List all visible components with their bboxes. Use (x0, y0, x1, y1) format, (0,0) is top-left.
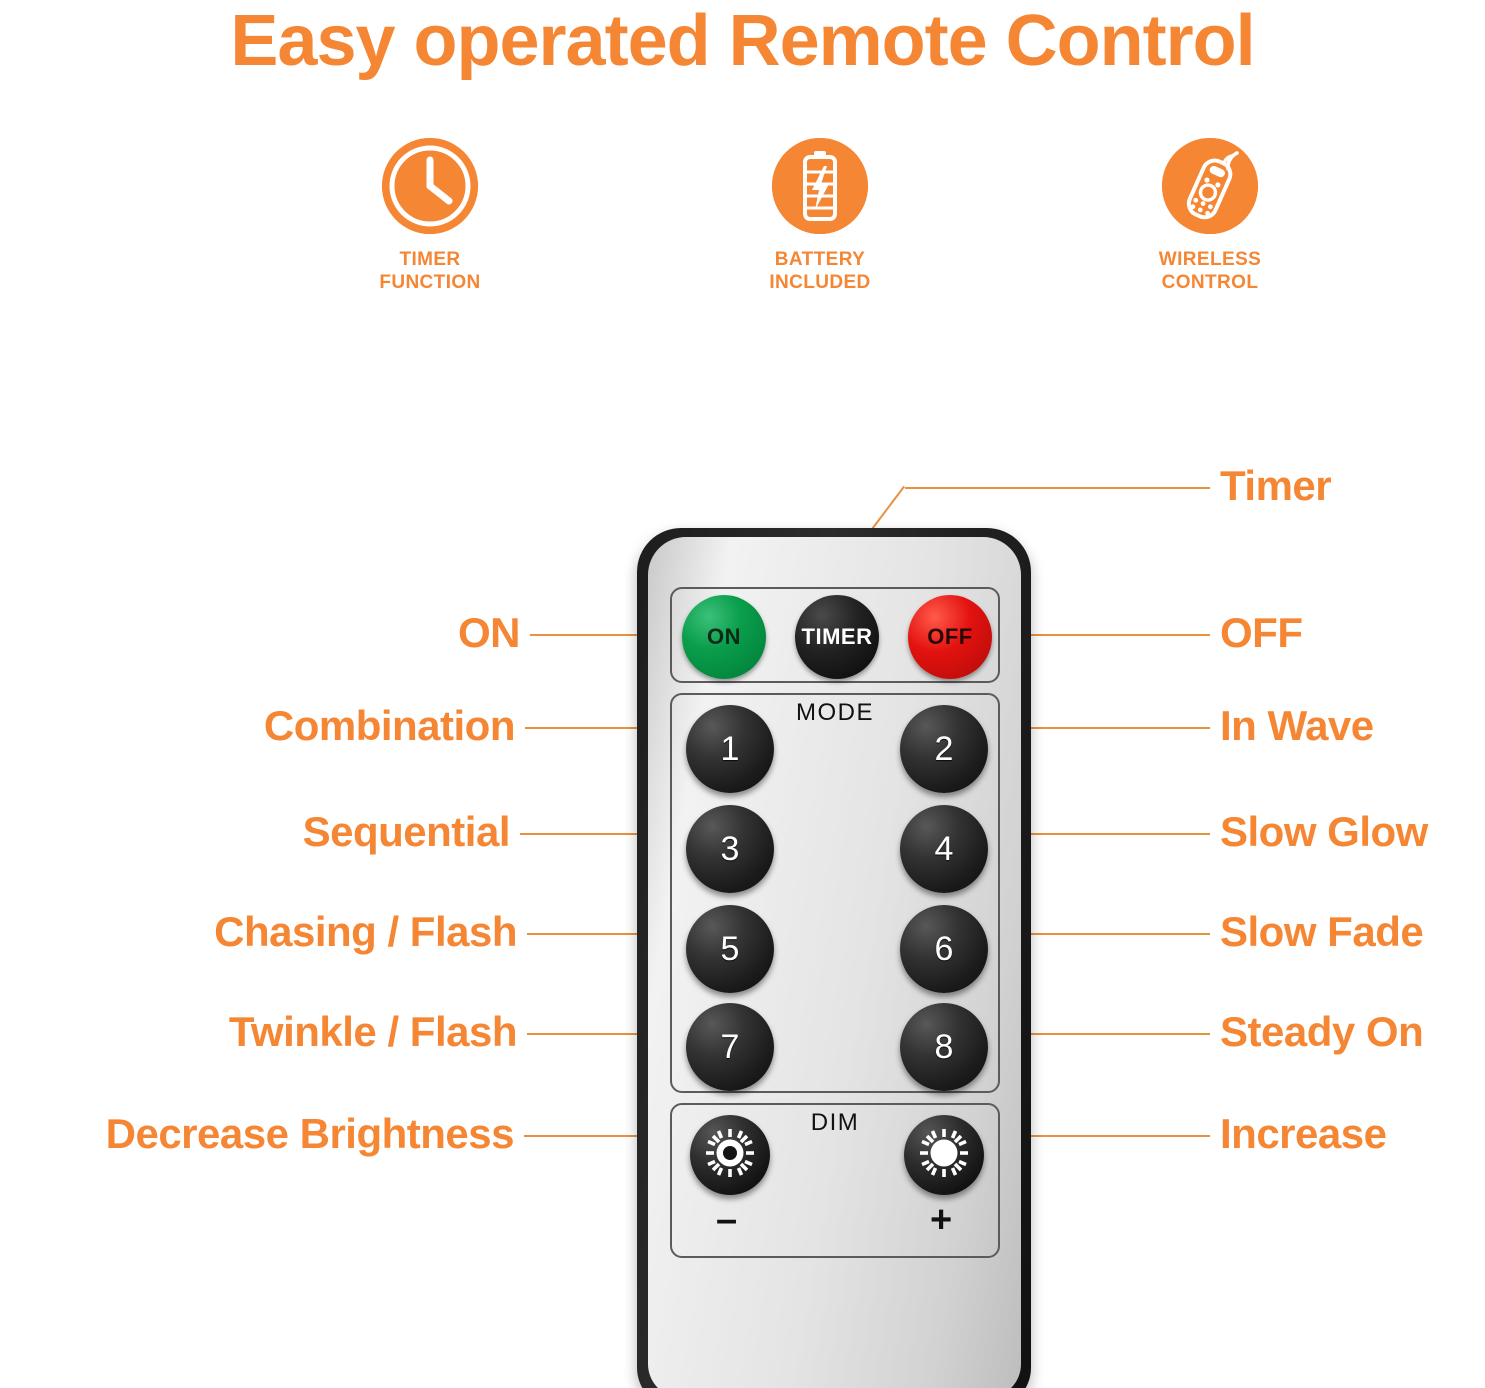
feature-label: BATTERY INCLUDED (769, 248, 870, 294)
dim-increase-button[interactable] (904, 1115, 984, 1195)
leader-line-timer-horizontal (905, 487, 1210, 489)
callout-label: Chasing / Flash (214, 908, 517, 955)
off-button[interactable]: OFF (908, 595, 992, 679)
remote-control: ON TIMER OFF MODE 1 2 3 4 5 6 7 8 (637, 528, 1031, 1388)
mode-panel: MODE 1 2 3 4 5 6 7 8 (670, 693, 1000, 1093)
mode-button-4[interactable]: 4 (900, 805, 988, 893)
feature-timer-function: TIMER FUNCTION (300, 138, 560, 294)
callout-in-wave: In Wave (1220, 705, 1374, 747)
off-button-label: OFF (927, 624, 973, 650)
feature-label: TIMER FUNCTION (379, 248, 480, 294)
sun-dim-icon (700, 1123, 760, 1188)
on-button[interactable]: ON (682, 595, 766, 679)
dim-panel: DIM (670, 1103, 1000, 1258)
mode-button-label: 2 (935, 730, 954, 769)
mode-button-label: 6 (935, 930, 954, 969)
feature-wireless-control: WIRELESS CONTROL (1080, 138, 1340, 294)
callout-label: Timer (1220, 462, 1331, 509)
mode-button-label: 4 (935, 830, 954, 869)
callout-twinkle-flash: Twinkle / Flash (90, 1011, 517, 1053)
callout-slow-fade: Slow Fade (1220, 911, 1423, 953)
callout-sequential: Sequential (120, 811, 510, 853)
feature-badge-row: TIMER FUNCTION BATTERY INCLUDED (300, 138, 1340, 294)
mode-button-label: 1 (721, 730, 740, 769)
mode-button-8[interactable]: 8 (900, 1003, 988, 1091)
page-title: Easy operated Remote Control (0, 2, 1485, 81)
dim-decrease-button[interactable] (690, 1115, 770, 1195)
callout-label: Decrease Brightness (106, 1110, 514, 1157)
callout-increase: Increase (1220, 1113, 1386, 1155)
callout-label: Sequential (303, 808, 510, 855)
timer-button-label: TIMER (802, 624, 873, 650)
callout-label: Slow Fade (1220, 908, 1423, 955)
callout-label: Combination (264, 702, 515, 749)
sun-bright-icon (914, 1123, 974, 1188)
dim-plus-sign: + (930, 1201, 952, 1239)
callout-label: Steady On (1220, 1008, 1423, 1055)
remote-signal-icon (1162, 138, 1258, 234)
callout-steady-on: Steady On (1220, 1011, 1423, 1053)
mode-button-7[interactable]: 7 (686, 1003, 774, 1091)
mode-button-1[interactable]: 1 (686, 705, 774, 793)
product-infographic: Easy operated Remote Control TIMER FUNCT… (0, 0, 1485, 1388)
feature-battery-included: BATTERY INCLUDED (690, 138, 950, 294)
callout-timer: Timer (1220, 465, 1331, 507)
callout-combination: Combination (120, 705, 515, 747)
callout-chasing-flash: Chasing / Flash (90, 911, 517, 953)
mode-button-label: 8 (935, 1028, 954, 1067)
callout-label: In Wave (1220, 702, 1374, 749)
callout-label: ON (458, 609, 520, 656)
callout-on: ON (220, 612, 520, 654)
on-button-label: ON (707, 624, 741, 650)
callout-label: Slow Glow (1220, 808, 1428, 855)
power-panel: ON TIMER OFF (670, 587, 1000, 683)
timer-button[interactable]: TIMER (795, 595, 879, 679)
callout-slow-glow: Slow Glow (1220, 811, 1428, 853)
dim-minus-sign: – (716, 1201, 737, 1239)
mode-button-3[interactable]: 3 (686, 805, 774, 893)
callout-label: OFF (1220, 609, 1302, 656)
battery-icon (772, 138, 868, 234)
mode-button-label: 3 (721, 830, 740, 869)
mode-button-6[interactable]: 6 (900, 905, 988, 993)
mode-button-label: 7 (721, 1028, 740, 1067)
clock-icon (382, 138, 478, 234)
mode-button-5[interactable]: 5 (686, 905, 774, 993)
mode-button-label: 5 (721, 930, 740, 969)
callout-label: Increase (1220, 1110, 1386, 1157)
remote-faceplate: ON TIMER OFF MODE 1 2 3 4 5 6 7 8 (648, 537, 1021, 1388)
callout-off: OFF (1220, 612, 1302, 654)
callout-label: Twinkle / Flash (229, 1008, 517, 1055)
feature-label: WIRELESS CONTROL (1159, 248, 1261, 294)
mode-button-2[interactable]: 2 (900, 705, 988, 793)
callout-decrease-brightness: Decrease Brightness (8, 1113, 514, 1155)
